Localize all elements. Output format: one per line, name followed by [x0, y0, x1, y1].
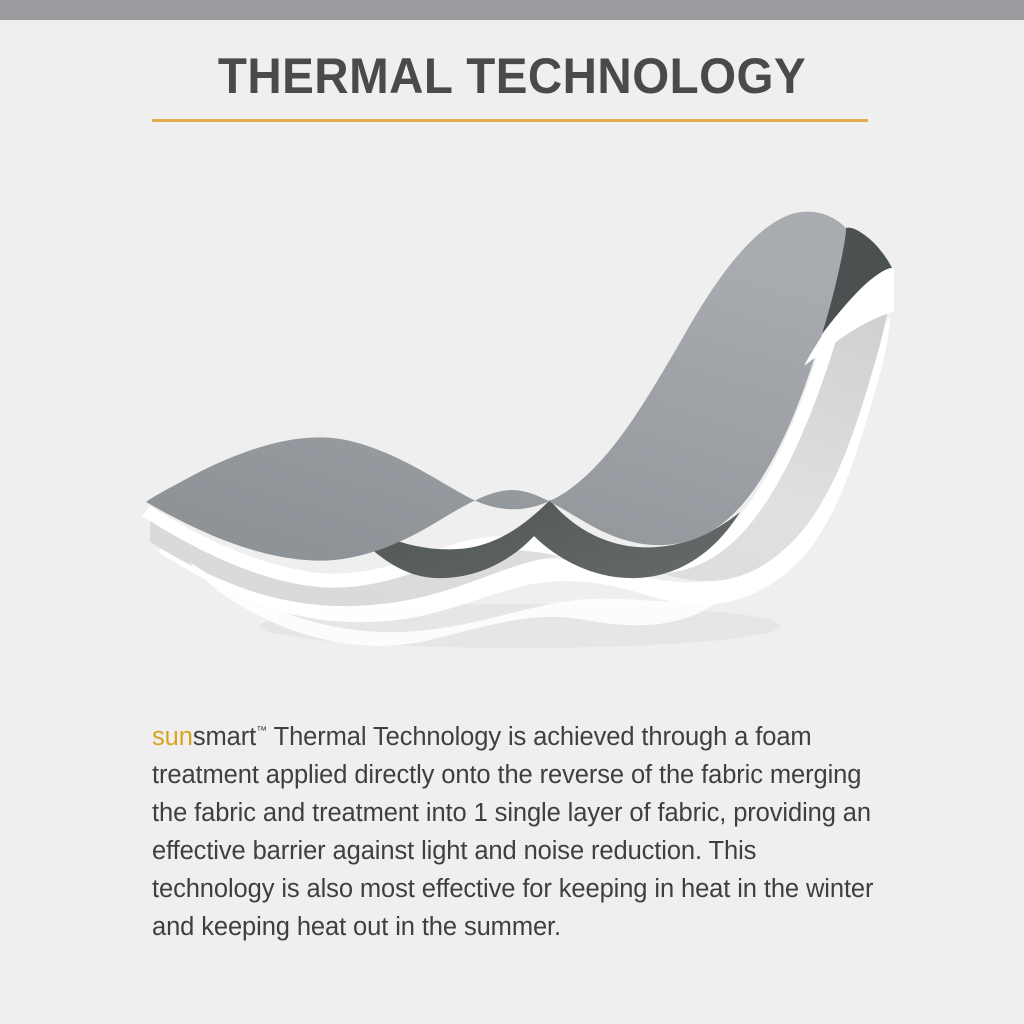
header: THERMAL TECHNOLOGY: [0, 20, 1024, 132]
description-paragraph: sunsmart™ Thermal Technology is achieved…: [152, 712, 876, 946]
fabric-layer-top: [146, 212, 846, 561]
brand-sun-text: sun: [152, 723, 193, 751]
description-text: Thermal Technology is achieved through a…: [152, 723, 873, 941]
thermal-fabric-illustration: [130, 190, 894, 660]
product-feature-panel: THERMAL TECHNOLOGY: [0, 0, 1024, 1024]
trademark-icon: ™: [256, 725, 267, 737]
fabric-layers-graphic: [130, 190, 894, 660]
title-divider-rule: [152, 119, 868, 122]
brand-smart-text: smart: [193, 723, 256, 751]
sunsmart-brand-lockup: sunsmart™: [152, 723, 267, 751]
top-accent-bar: [0, 0, 1024, 20]
page-title: THERMAL TECHNOLOGY: [26, 48, 999, 104]
